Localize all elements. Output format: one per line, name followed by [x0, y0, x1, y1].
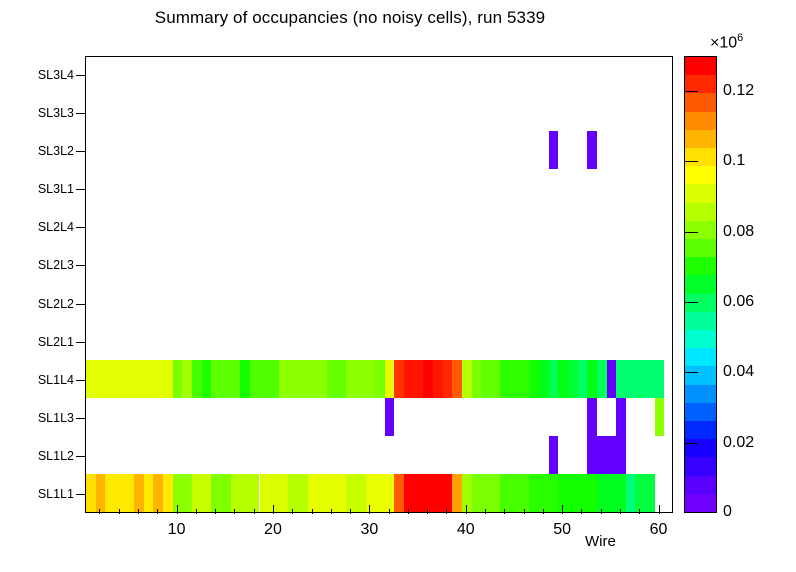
root-canvas: Summary of occupancies (no noisy cells),… — [0, 0, 796, 572]
x-axis-tick-label: 50 — [553, 521, 571, 539]
x-axis-tick-label: 20 — [264, 521, 282, 539]
color-bar-segment — [685, 257, 716, 276]
x-axis-minor-tick — [138, 509, 139, 514]
x-axis-minor-tick — [196, 509, 197, 514]
x-axis-minor-tick — [331, 509, 332, 514]
x-axis-minor-tick — [215, 509, 216, 514]
color-bar-tick-label: 0.02 — [723, 434, 754, 452]
x-axis-minor-tick — [504, 509, 505, 514]
x-axis-tick-label: 30 — [360, 521, 378, 539]
y-axis-label-sl3l3: SL3L3 — [38, 106, 74, 120]
x-axis-major-tick — [562, 505, 563, 514]
color-bar-segment — [685, 439, 716, 458]
y-axis-tick — [76, 380, 85, 381]
color-bar-exponent: ×106 — [710, 32, 743, 52]
x-axis-tick-label: 10 — [168, 521, 186, 539]
page-title: Summary of occupancies (no noisy cells),… — [0, 8, 700, 28]
x-axis-minor-tick — [601, 509, 602, 514]
color-bar-segment — [685, 166, 716, 185]
y-axis-tick — [76, 113, 85, 114]
x-axis-minor-tick — [620, 509, 621, 514]
x-axis-major-tick — [466, 505, 467, 514]
color-bar-tick — [684, 372, 698, 373]
color-bar-segment — [685, 202, 716, 221]
x-axis-minor-tick — [427, 509, 428, 514]
x-axis-minor-tick — [312, 509, 313, 514]
x-axis-minor-tick — [99, 509, 100, 514]
x-axis: 102030405060 — [85, 56, 673, 513]
x-axis-minor-tick — [408, 509, 409, 514]
y-axis-tick — [76, 265, 85, 266]
color-bar-segment — [685, 329, 716, 348]
color-bar-tick — [684, 443, 698, 444]
color-bar-exponent-base: ×10 — [710, 34, 737, 51]
color-bar-tick-label: 0 — [723, 503, 732, 521]
y-axis-tick — [76, 151, 85, 152]
color-bar-tick-label: 0.1 — [723, 152, 745, 170]
color-bar-segment — [685, 311, 716, 330]
x-axis-minor-tick — [350, 509, 351, 514]
color-bar-tick — [684, 91, 698, 92]
y-axis-tick — [76, 75, 85, 76]
color-bar-tick — [684, 232, 698, 233]
y-axis-tick — [76, 342, 85, 343]
color-bar-segment — [685, 184, 716, 203]
color-bar-segment — [685, 56, 716, 75]
color-bar-tick — [684, 302, 698, 303]
y-axis-tick — [76, 304, 85, 305]
x-axis-minor-tick — [581, 509, 582, 514]
y-axis-tick — [76, 494, 85, 495]
color-bar-segment — [685, 475, 716, 494]
color-bar-segment — [685, 420, 716, 439]
color-bar-segment — [685, 348, 716, 367]
y-axis-label-sl1l4: SL1L4 — [38, 373, 74, 387]
y-axis-tick — [76, 189, 85, 190]
x-axis-minor-tick — [157, 509, 158, 514]
x-axis-minor-tick — [389, 509, 390, 514]
y-axis-tick — [76, 418, 85, 419]
x-axis-minor-tick — [292, 509, 293, 514]
color-bar-segment — [685, 147, 716, 166]
y-axis-label-sl2l1: SL2L1 — [38, 335, 74, 349]
color-bar-segment — [685, 93, 716, 112]
y-axis-label-sl1l1: SL1L1 — [38, 487, 74, 501]
x-axis-minor-tick — [524, 509, 525, 514]
x-axis-minor-tick — [254, 509, 255, 514]
color-bar-tick-label: 0.06 — [723, 293, 754, 311]
color-bar — [684, 56, 717, 513]
color-bar-segment — [685, 220, 716, 239]
color-bar-tick-label: 0.04 — [723, 363, 754, 381]
color-bar-segment — [685, 366, 716, 385]
color-bar-segment — [685, 129, 716, 148]
x-axis-tick-label: 40 — [457, 521, 475, 539]
x-axis-tick-label: 60 — [650, 521, 668, 539]
y-axis-label-sl1l3: SL1L3 — [38, 411, 74, 425]
y-axis-label-sl2l3: SL2L3 — [38, 258, 74, 272]
x-axis-minor-tick — [119, 509, 120, 514]
y-axis-label-sl2l4: SL2L4 — [38, 220, 74, 234]
color-bar-segment — [685, 457, 716, 476]
y-axis-label-sl1l2: SL1L2 — [38, 449, 74, 463]
color-bar-segment — [685, 384, 716, 403]
color-bar-segment — [685, 238, 716, 257]
x-axis-major-tick — [177, 505, 178, 514]
x-axis-minor-tick — [485, 509, 486, 514]
y-axis-label-sl3l1: SL3L1 — [38, 182, 74, 196]
color-bar-segment — [685, 402, 716, 421]
color-bar-exponent-power: 6 — [737, 32, 743, 44]
y-axis-tick — [76, 456, 85, 457]
x-axis-major-tick — [659, 505, 660, 514]
x-axis-minor-tick — [234, 509, 235, 514]
color-bar-tick-label: 0.08 — [723, 223, 754, 241]
color-bar-segment — [685, 275, 716, 294]
x-axis-minor-tick — [543, 509, 544, 514]
y-axis-tick — [76, 227, 85, 228]
color-bar-tick-label: 0.12 — [723, 82, 754, 100]
y-axis-label-sl3l4: SL3L4 — [38, 68, 74, 82]
y-axis-label-sl2l2: SL2L2 — [38, 297, 74, 311]
y-axis-label-sl3l2: SL3L2 — [38, 144, 74, 158]
x-axis-minor-tick — [446, 509, 447, 514]
color-bar-tick — [684, 161, 698, 162]
x-axis-major-tick — [273, 505, 274, 514]
color-bar-segment — [685, 493, 716, 512]
x-axis-title: Wire — [585, 533, 616, 550]
x-axis-major-tick — [369, 505, 370, 514]
x-axis-minor-tick — [639, 509, 640, 514]
color-bar-segment — [685, 111, 716, 130]
color-bar-tick — [684, 512, 698, 513]
